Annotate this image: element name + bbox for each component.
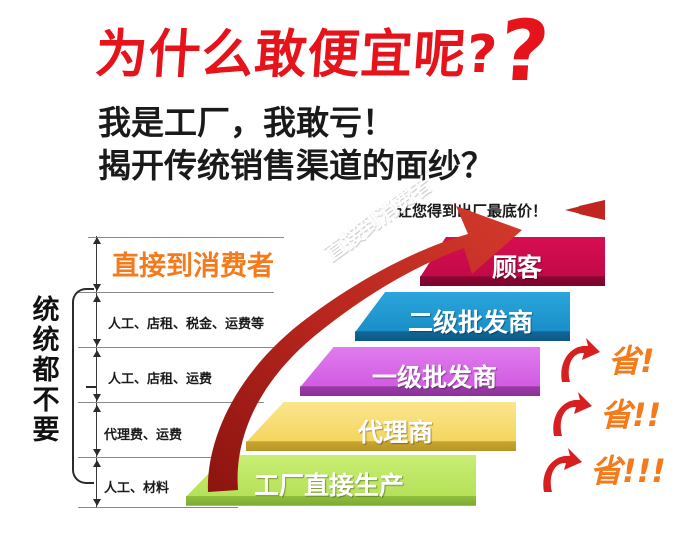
- subheading-line-1: 我是工厂，我敢亏！: [98, 105, 395, 141]
- infographic-canvas: 为什么敢便宜呢?? 我是工厂，我敢亏！ 揭开传统销售渠道的面纱？ 让您得到出厂最…: [0, 0, 700, 550]
- cost-brace: [72, 288, 94, 484]
- savings-label-2: 省!!: [600, 390, 661, 436]
- curved-arrow-icon-1: [556, 336, 602, 384]
- savings-label-3: 省!!!: [590, 446, 666, 492]
- savings-label-1: 省!: [608, 336, 655, 382]
- page-title: 为什么敢便宜呢??: [94, 14, 551, 84]
- subheading-line-2: 揭开传统销售渠道的面纱？: [98, 148, 494, 184]
- headline-question-mark: ?: [497, 2, 554, 100]
- curved-arrow-icon-2: [548, 390, 594, 438]
- curved-arrow-icon-3: [538, 446, 584, 494]
- headline-text: 为什么敢便宜呢?: [93, 25, 499, 85]
- brace-label: 统统都不要: [24, 296, 68, 446]
